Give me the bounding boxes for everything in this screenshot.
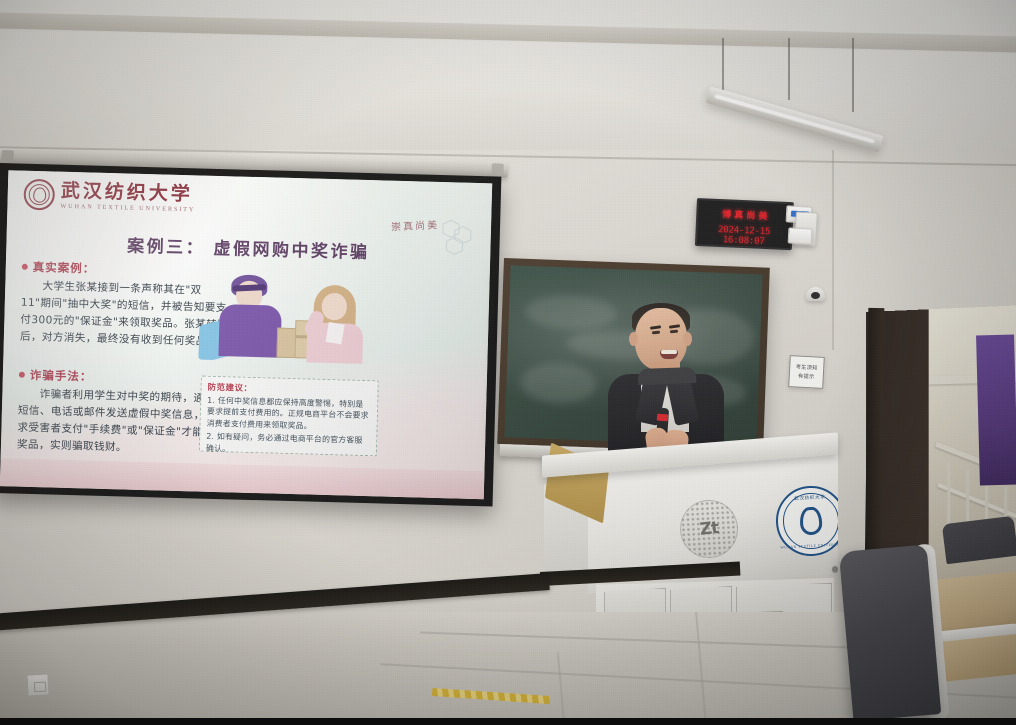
light-cord xyxy=(852,38,854,112)
person-ear-right xyxy=(683,332,692,346)
section-heading-label: 真实案例： xyxy=(33,259,96,277)
ceiling-light-fixture xyxy=(700,38,900,138)
podium-seal-name-cn: 武汉纺织大学 xyxy=(777,493,843,502)
slide-footer-band xyxy=(0,458,484,499)
screen-roller-cap xyxy=(491,163,503,175)
section-body-scam-method: 诈骗者利用学生对中奖的期待，通过短信、电话或邮件发送虚假中奖信息，要求受害者支付… xyxy=(17,386,227,460)
presentation-slide: 武汉纺织大学 WUHAN TEXTILE UNIVERSITY 崇真尚美 xyxy=(0,170,492,499)
floor-tile-seam xyxy=(695,612,706,725)
wall-power-outlet[interactable] xyxy=(26,673,49,696)
floor-tile-seam xyxy=(557,652,565,725)
led-scrolling-display: 博 真 尚 美 2024-12-15 16:08:07 xyxy=(695,198,794,250)
bullet-dot-icon xyxy=(19,372,25,378)
section-heading-real-case: 真实案例： xyxy=(22,259,230,281)
lecture-seat-back xyxy=(942,516,1016,564)
led-headline-text: 博 真 尚 美 xyxy=(722,207,768,222)
screen-bezel: 武汉纺织大学 WUHAN TEXTILE UNIVERSITY 崇真尚美 xyxy=(0,163,501,506)
podium-university-seal-icon: 武汉纺织大学 WUHAN TEXTILE UNIVERSITY xyxy=(774,484,848,558)
led-datetime: 2024-12-15 16:08:07 xyxy=(697,224,791,248)
stair-baluster xyxy=(947,462,950,525)
person-mouth xyxy=(660,350,678,359)
podium-lock-knob[interactable] xyxy=(832,566,838,572)
section-heading-scam-method: 诈骗手法： xyxy=(19,367,227,389)
corridor-banner xyxy=(976,335,1016,486)
projection-screen: 武汉纺织大学 WUHAN TEXTILE UNIVERSITY 崇真尚美 xyxy=(0,148,508,518)
light-cord xyxy=(788,38,790,100)
image-bottom-border xyxy=(0,718,1016,725)
podium-seal-glyph xyxy=(799,506,822,535)
screen-surface: 武汉纺织大学 WUHAN TEXTILE UNIVERSITY 崇真尚美 xyxy=(0,170,492,499)
person-collar xyxy=(638,367,697,385)
podium-seal-name-en: WUHAN TEXTILE UNIVERSITY xyxy=(779,542,845,549)
bullet-dot-icon xyxy=(22,264,28,270)
wall-notice-sign: 考生须知 有提示 xyxy=(788,355,825,389)
slide-section-scam-method: 诈骗手法： 诈骗者利用学生对中奖的期待，通过短信、电话或邮件发送虚假中奖信息，要… xyxy=(17,367,227,460)
chalk-smudge xyxy=(520,362,597,405)
person-head xyxy=(635,308,687,370)
university-name-cn: 武汉纺织大学 xyxy=(61,181,196,204)
lecture-desk-panel xyxy=(936,634,1016,682)
wall-switch-plate[interactable] xyxy=(788,227,813,244)
advice-item-1: 1. 任何中奖信息都应保持高度警惕，特别是要求提前支付费用的。正规电商平台不会要… xyxy=(206,395,371,434)
section-heading-label: 诈骗手法： xyxy=(30,367,93,385)
light-cord xyxy=(722,38,724,90)
prevention-advice-box: 防范建议： 1. 任何中奖信息都应保持高度警惕，特别是要求提前支付费用的。正规电… xyxy=(199,376,379,457)
microphone-red-band xyxy=(657,414,668,422)
lecture-seat-back[interactable] xyxy=(839,544,941,721)
figure-right-head xyxy=(321,293,347,321)
security-camera-icon xyxy=(806,287,825,301)
university-logo: 武汉纺织大学 WUHAN TEXTILE UNIVERSITY xyxy=(23,179,196,215)
advice-item-2: 2. 如有疑问，务必通过电商平台的官方客服确认。 xyxy=(206,431,371,458)
wall-seam xyxy=(832,150,834,350)
wall-sign-line-1: 考生须知 xyxy=(796,363,818,371)
classroom-photo: 武汉纺织大学 WUHAN TEXTILE UNIVERSITY 崇真尚美 xyxy=(0,0,1016,725)
scam-illustration xyxy=(198,268,390,365)
university-seal-icon xyxy=(23,179,55,211)
person-ear-left xyxy=(629,332,638,346)
screen-roller-cap xyxy=(2,150,14,162)
figure-left-body xyxy=(218,304,281,358)
podium-speaker-grille: Zt xyxy=(679,499,740,560)
podium-grille-mark: Zt xyxy=(699,518,719,540)
wall-sign-line-2: 有提示 xyxy=(798,373,815,381)
university-motto: 崇真尚美 xyxy=(391,216,440,233)
figure-right-collar xyxy=(326,322,345,344)
